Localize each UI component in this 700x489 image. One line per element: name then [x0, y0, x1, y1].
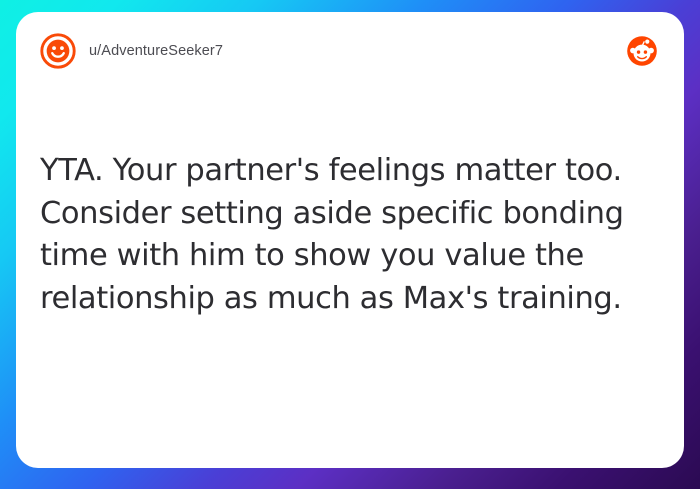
comment-text: YTA. Your partner's feelings matter too.…	[40, 150, 660, 320]
avatar[interactable]	[40, 33, 76, 69]
reddit-comment-card: u/AdventureSeeker7 YTA. Your partner's f…	[16, 12, 684, 468]
reddit-logo[interactable]	[626, 35, 658, 67]
username-label: u/AdventureSeeker7	[89, 43, 223, 59]
card-header: u/AdventureSeeker7	[16, 12, 684, 90]
smiley-face-avatar-icon	[40, 33, 76, 69]
screen-background: u/AdventureSeeker7 YTA. Your partner's f…	[0, 0, 700, 489]
reddit-snoo-icon	[626, 35, 658, 67]
